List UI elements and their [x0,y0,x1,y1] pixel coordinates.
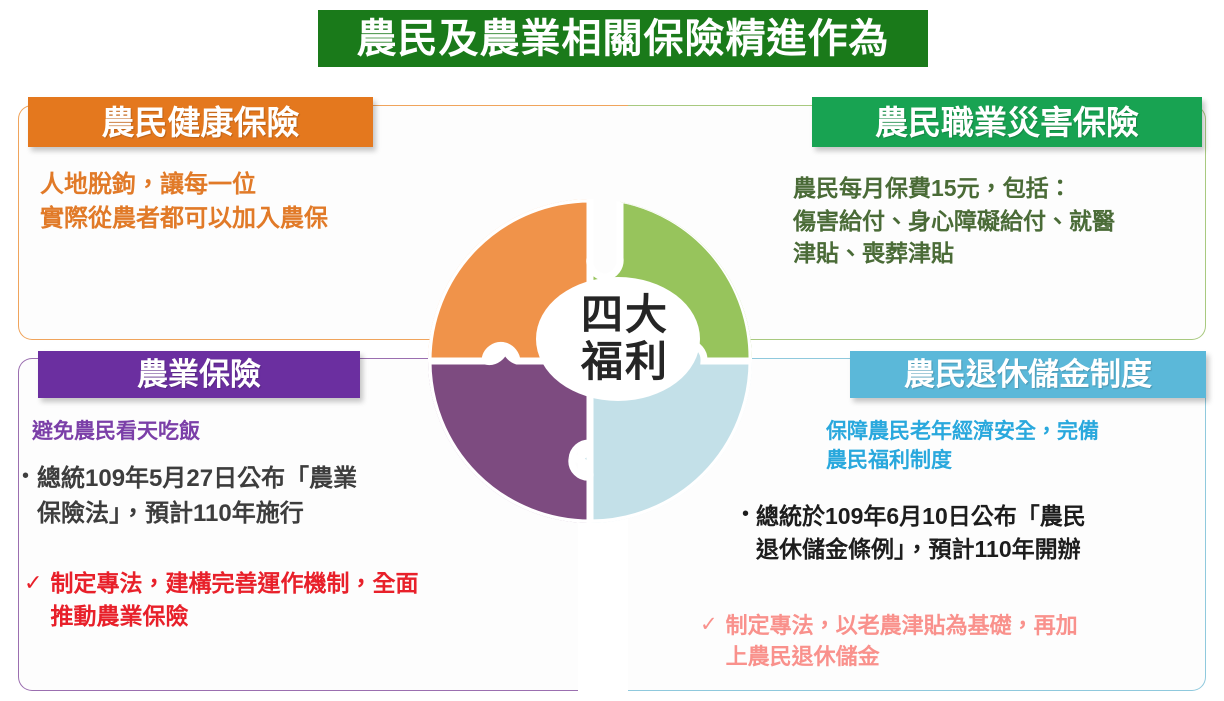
check-pension-text: 制定專法，以老農津貼為基礎，再加 上農民退休儲金 [726,610,1078,672]
heading-agriculture-label: 農業保險 [137,359,261,390]
heading-health: 農民健康保險 [28,97,373,147]
center-ellipse [536,277,700,401]
body-occupational: 農民每月保費15元，包括： 傷害給付、身心障礙給付、就醫 津貼、喪葬津貼 [793,172,1213,270]
subhead-agriculture: 避免農民看天吃飯 [32,418,452,447]
check-agriculture: ✓ 制定專法，建構完善運作機制，全面 推動農業保險 [24,567,544,632]
body-health: 人地脫鉤，讓每一位 實際從農者都可以加入農保 [40,168,460,236]
page-title-banner: 農民及農業相關保險精進作為 [318,10,928,67]
bullet-agriculture: • 總統109年5月27日公布「農業 保險法」，預計110年施行 [22,462,492,532]
heading-occupational-label: 農民職業災害保險 [875,106,1139,139]
heading-pension: 農民退休儲金制度 [850,351,1206,398]
subhead-pension: 保障農民老年經濟安全，完備 農民福利制度 [826,418,1216,476]
heading-agriculture: 農業保險 [38,351,360,398]
check-marker-icon: ✓ [24,567,42,632]
check-agriculture-text: 制定專法，建構完善運作機制，全面 推動農業保險 [50,567,418,632]
bullet-marker-icon: • [22,462,29,532]
check-marker-icon: ✓ [700,610,718,672]
heading-pension-label: 農民退休儲金制度 [904,359,1152,390]
heading-occupational: 農民職業災害保險 [812,97,1202,147]
check-pension: ✓ 制定專法，以老農津貼為基礎，再加 上農民退休儲金 [700,610,1210,672]
heading-health-label: 農民健康保險 [102,106,300,139]
infographic-slide: 農民及農業相關保險精進作為 四大 福利 [0,0,1224,701]
bullet-pension-text: 總統於109年6月10日公布「農民 退休儲金條例」，預計110年開辦 [756,500,1086,567]
four-benefits-puzzle [425,196,755,526]
bullet-pension: • 總統於109年6月10日公布「農民 退休儲金條例」，預計110年開辦 [742,500,1222,567]
page-title: 農民及農業相關保險精進作為 [357,19,890,59]
bullet-agriculture-text: 總統109年5月27日公布「農業 保險法」，預計110年施行 [37,462,357,532]
